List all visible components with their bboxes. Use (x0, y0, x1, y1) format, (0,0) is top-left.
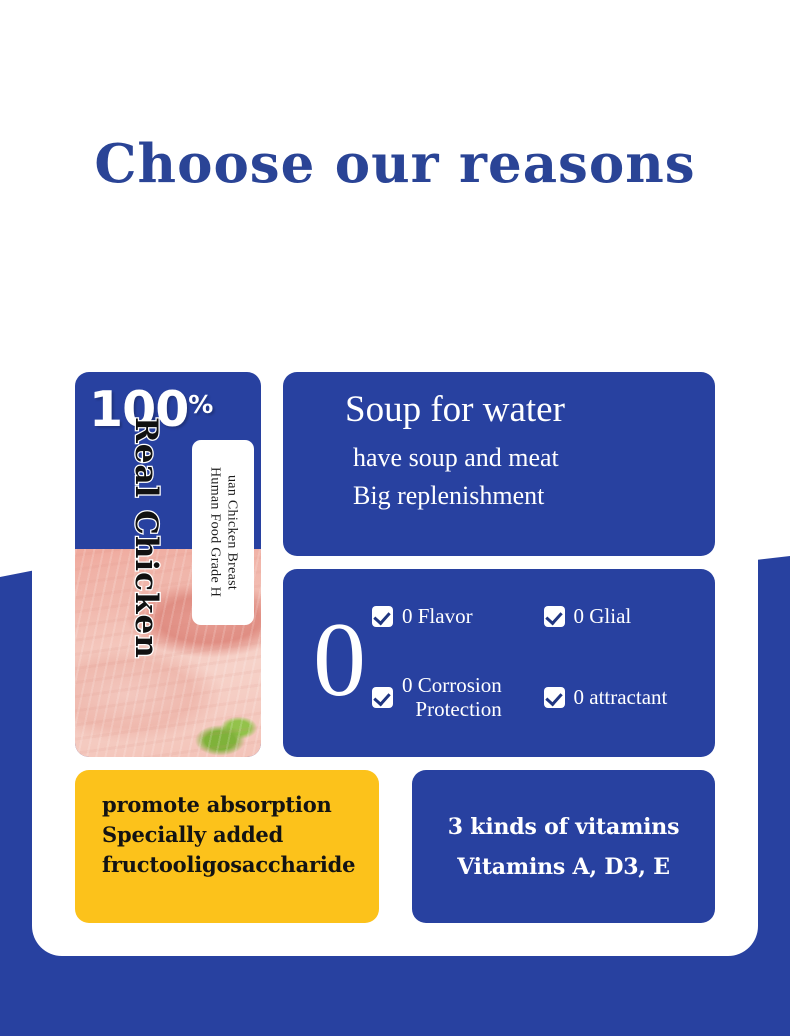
panel-real-chicken: 100 % Real Chicken uan Chicken Breast Hu… (75, 372, 261, 757)
checklist-item-glial[interactable]: 0 Glial (544, 604, 710, 629)
promote-line-1: promote absorption (102, 790, 379, 820)
food-grade-callout: uan Chicken Breast Human Food Grade H (192, 440, 254, 625)
page-title: Choose our reasons (0, 133, 790, 195)
checklist-item-attractant[interactable]: 0 attractant (544, 685, 710, 710)
checklist-label-corrosion-line-2: Protection (415, 697, 501, 721)
checklist-item-flavor[interactable]: 0 Flavor (372, 604, 538, 629)
panel-soup-for-water: Soup for water have soup and meat Big re… (283, 372, 715, 556)
vitamin-line-1: 3 kinds of vitamins (448, 814, 680, 840)
soup-title: Soup for water (345, 390, 715, 430)
checklist-label-attractant: 0 attractant (574, 685, 668, 710)
food-grade-line-2: Human Food Grade H (207, 467, 223, 597)
real-chicken-label: Real Chicken (128, 417, 164, 607)
checklist-label-flavor: 0 Flavor (402, 604, 473, 629)
checklist-label-corrosion-protection: 0 CorrosionProtection (402, 673, 502, 723)
panel-promote-absorption: promote absorption Specially added fruct… (75, 770, 379, 923)
checkbox-checked-icon[interactable] (544, 687, 565, 708)
promote-line-2: Specially added (102, 820, 379, 850)
checklist-label-corrosion-line-1: 0 Corrosion (402, 673, 502, 697)
panel-vitamins: 3 kinds of vitamins Vitamins A, D3, E (412, 770, 715, 923)
promote-line-3: fructooligosaccharide (102, 850, 379, 880)
checkbox-checked-icon[interactable] (372, 606, 393, 627)
checkbox-checked-icon[interactable] (372, 687, 393, 708)
zero-checklist: 0 Flavor 0 Glial 0 CorrosionProtection 0… (372, 604, 715, 722)
soup-line-1: have soup and meat (353, 439, 715, 477)
vitamin-line-2: Vitamins A, D3, E (457, 854, 670, 880)
food-grade-line-1: uan Chicken Breast (224, 475, 240, 590)
zero-big-number: 0 (313, 607, 366, 713)
percent-sign: % (188, 390, 213, 419)
checklist-label-glial: 0 Glial (574, 604, 632, 629)
soup-line-2: Big replenishment (353, 477, 715, 515)
checkbox-checked-icon[interactable] (544, 606, 565, 627)
panel-zero-additives: 0 0 Flavor 0 Glial 0 CorrosionProtection… (283, 569, 715, 757)
checklist-item-corrosion-protection[interactable]: 0 CorrosionProtection (372, 673, 538, 723)
